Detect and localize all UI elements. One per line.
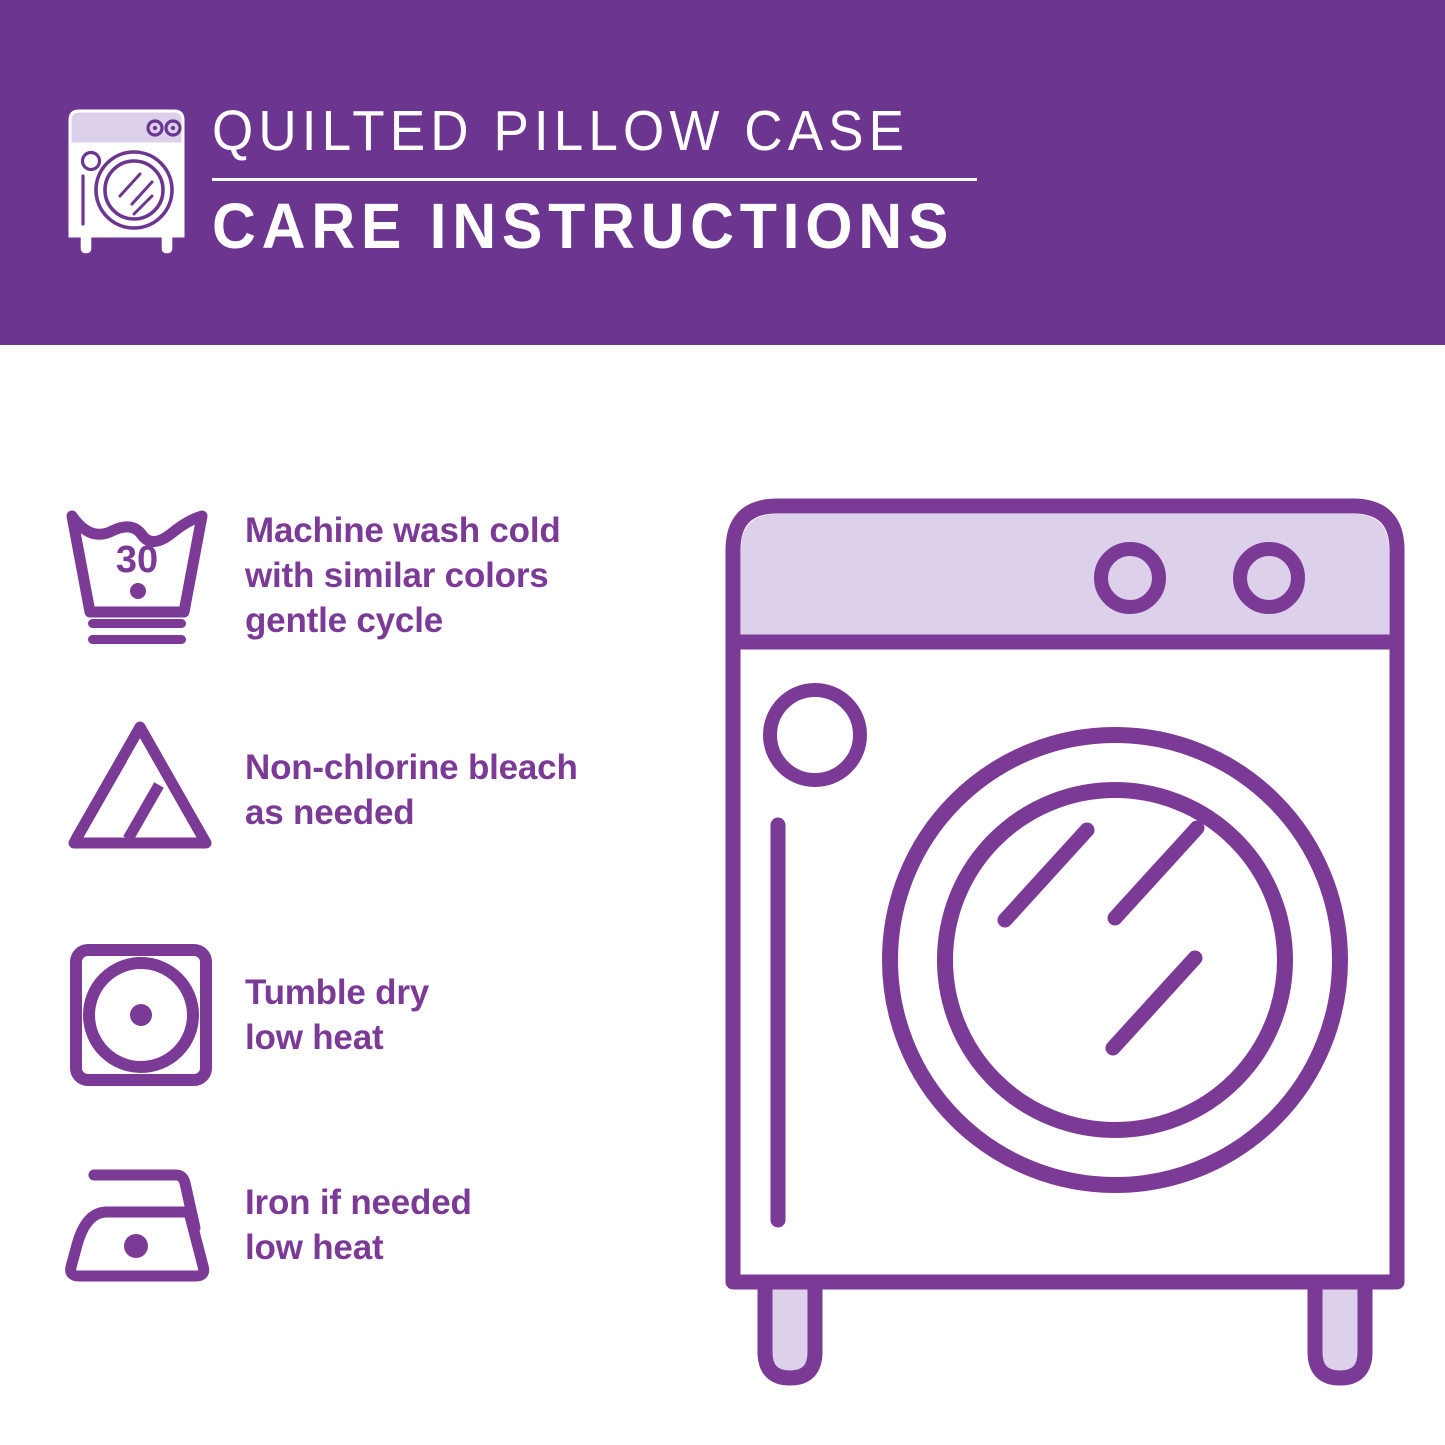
machine-wash-30-gentle-symbol: 30 — [60, 500, 225, 650]
header-text-block: QUILTED PILLOW CASE CARE INSTRUCTIONS — [212, 96, 1002, 265]
tumble-dry-low-heat-symbol — [60, 940, 225, 1090]
care-label-iron: Iron if needed low heat — [245, 1180, 472, 1270]
gentle-cycle-dot — [130, 583, 146, 599]
leg-right — [1315, 1282, 1365, 1378]
page-header: QUILTED PILLOW CASE CARE INSTRUCTIONS — [0, 0, 1445, 345]
leg-left — [765, 1282, 815, 1378]
care-row-iron: Iron if needed low heat — [60, 1150, 690, 1300]
care-row-machine-wash: 30 Machine wash cold with similar colors… — [60, 500, 690, 650]
title-divider — [212, 178, 977, 181]
page-subtitle: CARE INSTRUCTIONS — [212, 187, 963, 265]
front-load-washing-machine-illustration — [715, 470, 1415, 1390]
non-chlorine-bleach-triangle-symbol — [60, 715, 225, 865]
knob-left[interactable] — [1101, 549, 1159, 607]
care-instructions-list: 30 Machine wash cold with similar colors… — [0, 345, 700, 1445]
care-row-bleach: Non-chlorine bleach as needed — [60, 715, 690, 865]
knob-right[interactable] — [1240, 549, 1298, 607]
care-label-bleach: Non-chlorine bleach as needed — [245, 745, 578, 835]
wash-temperature-value: 30 — [116, 539, 158, 581]
low-heat-dot — [130, 1004, 152, 1026]
washing-machine-icon — [62, 104, 194, 254]
care-row-tumble-dry: Tumble dry low heat — [60, 940, 690, 1090]
care-label-machine-wash: Machine wash cold with similar colors ge… — [245, 508, 561, 643]
page-title: QUILTED PILLOW CASE — [212, 96, 947, 166]
care-instructions-page: QUILTED PILLOW CASE CARE INSTRUCTIONS 30… — [0, 0, 1445, 1445]
care-label-tumble-dry: Tumble dry low heat — [245, 970, 429, 1060]
iron-low-heat-dot — [124, 1234, 148, 1258]
iron-low-heat-symbol — [60, 1150, 225, 1300]
